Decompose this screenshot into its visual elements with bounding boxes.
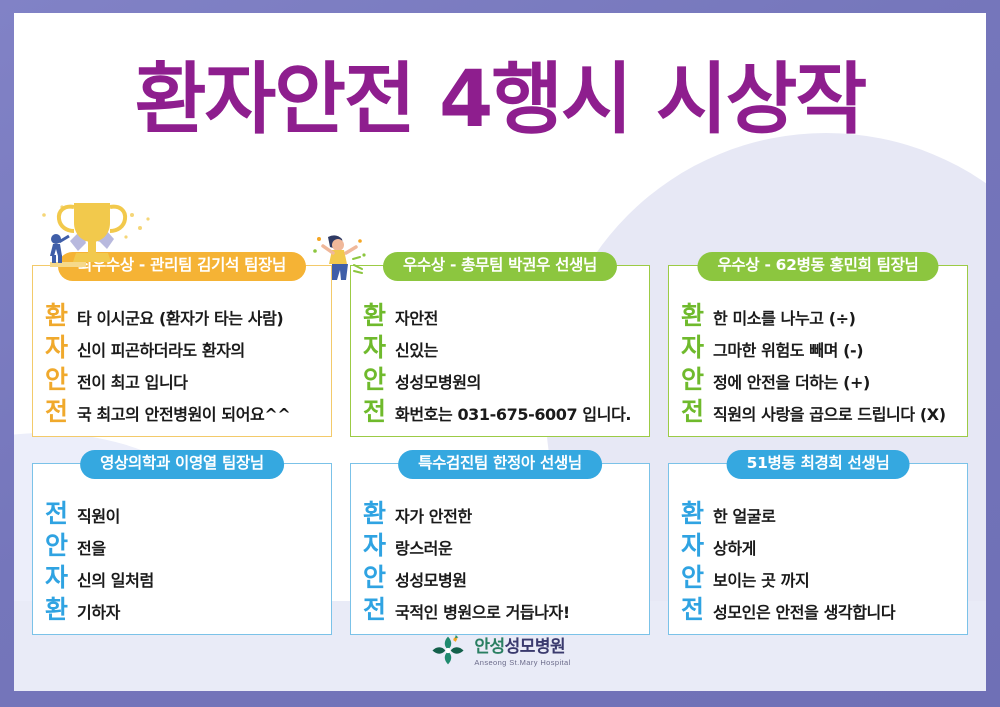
acrostic-lead-char: 안 [45,366,77,393]
acrostic-lead-char: 자 [363,532,395,559]
award-card: 특수검진팀 한정아 선생님 환 자가 안전한 자 랑스러운 안 성성모병원 [350,463,650,635]
acrostic-text: 랑스러운 [395,539,452,558]
acrostic-lines: 전 직원이 안 전을 자 신의 일처럼 환 기하 [45,500,321,623]
hospital-logo-text: 안성성모병원 Anseong St.Mary Hospital [474,639,570,667]
acrostic-lead-char: 안 [363,366,395,393]
acrostic-text: 성성모병원 [395,571,467,590]
award-card: 최우수상 - 관리팀 김기석 팀장님 환 타 이시군요 (환자가 타는 사람) … [32,265,332,437]
acrostic-lead-char: 환 [45,302,77,329]
acrostic-line: 전 국 최고의 안전병원이 되어요^^ [45,398,321,425]
hospital-logo: 안성성모병원 Anseong St.Mary Hospital [14,633,986,673]
acrostic-lead-char: 환 [363,500,395,527]
acrostic-line: 안 전이 최고 입니다 [45,366,321,393]
acrostic-lead-char: 자 [681,334,713,361]
acrostic-line: 자 그마한 위험도 빼며 (-) [681,334,957,361]
acrostic-lead-char: 안 [363,564,395,591]
acrostic-text: 자안전 [395,309,438,328]
acrostic-line: 환 타 이시군요 (환자가 타는 사람) [45,302,321,329]
acrostic-line: 자 신의 일처럼 [45,564,321,591]
acrostic-text: 전을 [77,539,106,558]
award-card: 우수상 - 62병동 홍민희 팀장님 환 한 미소를 나누고 (÷) 자 그마한… [668,265,968,437]
acrostic-lead-char: 환 [681,302,713,329]
award-card-grid: 최우수상 - 관리팀 김기석 팀장님 환 타 이시군요 (환자가 타는 사람) … [32,265,968,635]
poster-frame: 환자안전 4행시 시상작 [0,0,1000,707]
acrostic-text: 신있는 [395,341,438,360]
acrostic-line: 전 직원이 [45,500,321,527]
acrostic-text: 성모인은 안전을 생각합니다 [713,603,895,622]
acrostic-lines: 환 자안전 자 신있는 안 성성모병원의 전 화 [363,302,639,425]
award-badge: 특수검진팀 한정아 선생님 [398,450,602,479]
acrostic-lead-char: 안 [45,532,77,559]
poster-sheet: 환자안전 4행시 시상작 [14,13,986,691]
acrostic-text: 상하게 [713,539,756,558]
acrostic-text: 국 최고의 안전병원이 되어요^^ [77,405,290,424]
acrostic-line: 환 자가 안전한 [363,500,639,527]
acrostic-lines: 환 한 얼굴로 자 상하게 안 보이는 곳 까지 전 [681,500,957,623]
hospital-name-part1: 안성 [474,637,504,657]
acrostic-line: 안 성성모병원의 [363,366,639,393]
acrostic-line: 자 신있는 [363,334,639,361]
acrostic-lead-char: 안 [681,366,713,393]
acrostic-line: 환 자안전 [363,302,639,329]
acrostic-text: 신이 피곤하더라도 환자의 [77,341,245,360]
acrostic-lead-char: 자 [45,334,77,361]
acrostic-line: 환 기하자 [45,596,321,623]
acrostic-text: 보이는 곳 까지 [713,571,809,590]
acrostic-lead-char: 환 [681,500,713,527]
acrostic-text: 한 얼굴로 [713,507,775,526]
acrostic-lead-char: 전 [681,596,713,623]
award-card: 우수상 - 총무팀 박권우 선생님 환 자안전 자 신있는 안 성성모병원의 [350,265,650,437]
acrostic-line: 전 국적인 병원으로 거듭나자! [363,596,639,623]
acrostic-lead-char: 안 [681,564,713,591]
acrostic-lines: 환 자가 안전한 자 랑스러운 안 성성모병원 전 [363,500,639,623]
acrostic-lead-char: 환 [363,302,395,329]
award-card: 영상의학과 이영열 팀장님 전 직원이 안 전을 자 신의 일처럼 [32,463,332,635]
acrostic-lines: 환 한 미소를 나누고 (÷) 자 그마한 위험도 빼며 (-) 안 정에 안전… [681,302,957,425]
acrostic-lead-char: 전 [45,500,77,527]
award-badge: 영상의학과 이영열 팀장님 [80,450,284,479]
acrostic-text: 기하자 [77,603,120,622]
page-title: 환자안전 4행시 시상작 [14,13,986,139]
acrostic-line: 자 랑스러운 [363,532,639,559]
acrostic-lead-char: 전 [45,398,77,425]
acrostic-text: 한 미소를 나누고 (÷) [713,309,856,328]
acrostic-line: 환 한 미소를 나누고 (÷) [681,302,957,329]
award-card: 51병동 최경희 선생님 환 한 얼굴로 자 상하게 안 보이는 곳 까지 [668,463,968,635]
award-badge: 우수상 - 62병동 홍민희 팀장님 [697,252,938,281]
acrostic-line: 전 성모인은 안전을 생각합니다 [681,596,957,623]
acrostic-line: 환 한 얼굴로 [681,500,957,527]
acrostic-line: 안 전을 [45,532,321,559]
acrostic-lead-char: 환 [45,596,77,623]
acrostic-lead-char: 전 [363,398,395,425]
acrostic-text: 그마한 위험도 빼며 (-) [713,341,863,360]
acrostic-line: 전 직원의 사랑을 곱으로 드립니다 (X) [681,398,957,425]
acrostic-text: 타 이시군요 (환자가 타는 사람) [77,309,283,328]
trophy-illustration [32,195,162,281]
hospital-name-english: Anseong St.Mary Hospital [474,659,570,667]
acrostic-line: 안 정에 안전을 더하는 (+) [681,366,957,393]
acrostic-lead-char: 전 [363,596,395,623]
acrostic-lead-char: 자 [681,532,713,559]
acrostic-line: 전 화번호는 031-675-6007 입니다. [363,398,639,425]
acrostic-line: 자 신이 피곤하더라도 환자의 [45,334,321,361]
hospital-cross-flower-logo-icon [429,633,467,673]
acrostic-text: 자가 안전한 [395,507,472,526]
acrostic-lead-char: 자 [363,334,395,361]
acrostic-text: 국적인 병원으로 거듭나자! [395,603,570,622]
acrostic-text: 전이 최고 입니다 [77,373,188,392]
acrostic-lead-char: 자 [45,564,77,591]
award-badge: 우수상 - 총무팀 박권우 선생님 [383,252,617,281]
acrostic-text: 화번호는 031-675-6007 입니다. [395,405,631,424]
acrostic-text: 직원의 사랑을 곱으로 드립니다 (X) [713,405,946,424]
acrostic-text: 성성모병원의 [395,373,481,392]
acrostic-line: 안 보이는 곳 까지 [681,564,957,591]
acrostic-line: 안 성성모병원 [363,564,639,591]
hospital-name-part2: 성모병원 [505,637,566,657]
acrostic-lines: 환 타 이시군요 (환자가 타는 사람) 자 신이 피곤하더라도 환자의 안 전… [45,302,321,425]
acrostic-text: 정에 안전을 더하는 (+) [713,373,870,392]
celebrating-person-illustration [310,231,370,289]
acrostic-lead-char: 전 [681,398,713,425]
acrostic-text: 신의 일처럼 [77,571,154,590]
award-badge: 51병동 최경희 선생님 [727,450,910,479]
acrostic-line: 자 상하게 [681,532,957,559]
acrostic-text: 직원이 [77,507,120,526]
